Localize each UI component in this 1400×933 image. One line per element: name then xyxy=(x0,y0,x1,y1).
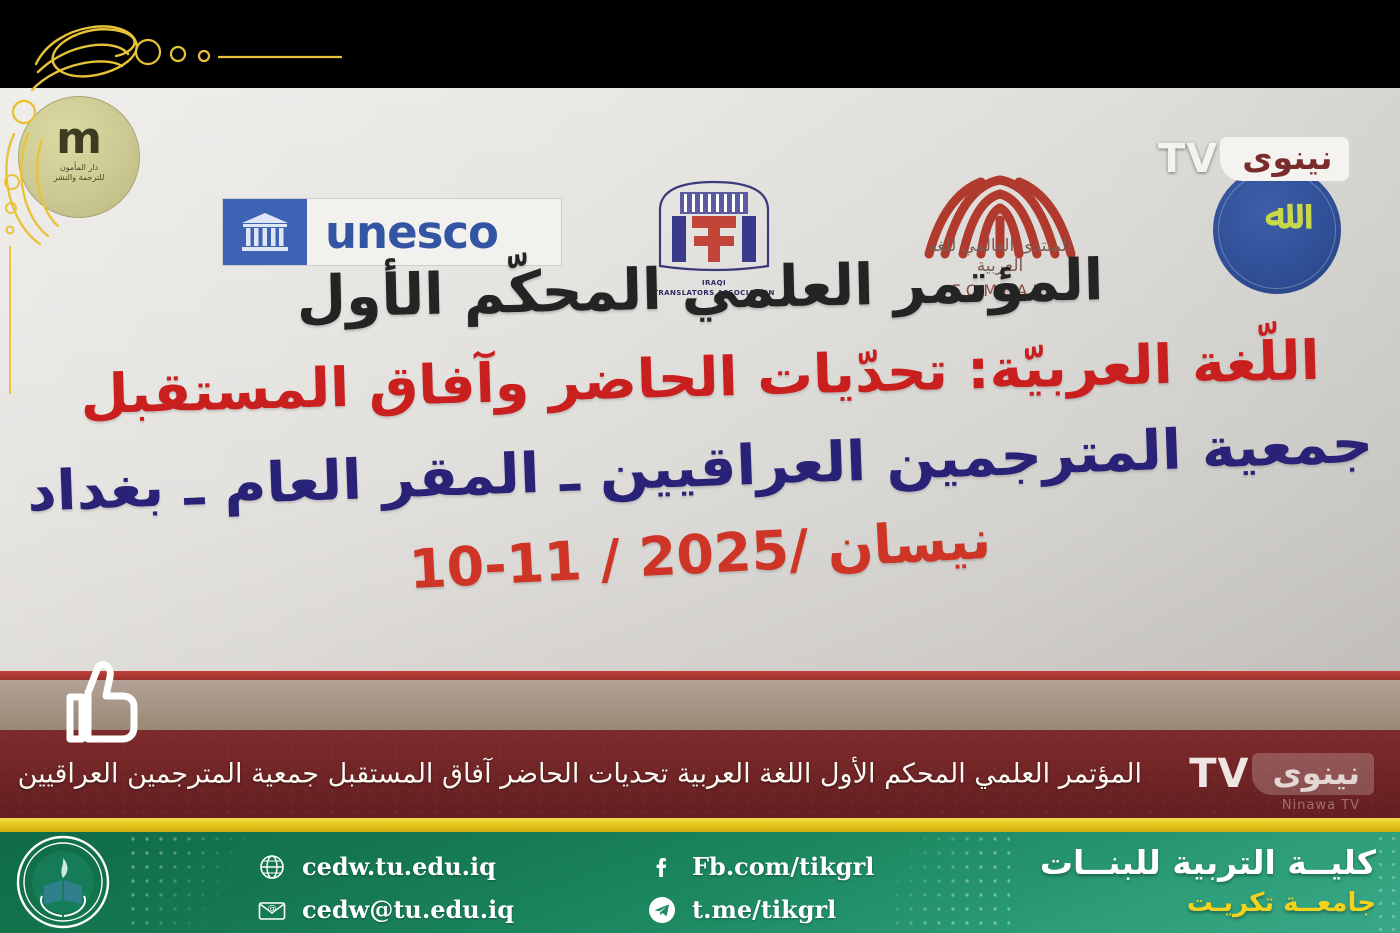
footer-contacts-web: cedw.tu.edu.iq @ cedw@tu.edu.iq xyxy=(258,852,514,924)
contact-facebook-text: Fb.com/tikgrl xyxy=(692,852,874,881)
contact-website-text: cedw.tu.edu.iq xyxy=(302,852,496,881)
mamoun-caption-line2: للترجمة والنشر xyxy=(54,173,105,183)
broadcast-screenshot: m دار المأمون للترجمة والنشر xyxy=(0,0,1400,933)
conference-title: المؤتمر العلمي المحكّم الأول xyxy=(0,241,1400,338)
mamoun-glyph-icon: m xyxy=(56,121,102,156)
footer-university-name: جامعــة تكريـت xyxy=(1040,888,1376,918)
college-seal-icon xyxy=(14,834,112,930)
contact-email[interactable]: @ cedw@tu.edu.iq xyxy=(258,895,514,924)
footer-dot-pattern-left xyxy=(126,832,254,933)
university-glyph-icon: ﷲ xyxy=(1265,192,1288,238)
contact-email-text: cedw@tu.edu.iq xyxy=(302,895,514,924)
contact-website[interactable]: cedw.tu.edu.iq xyxy=(258,852,514,881)
channel-logo-bug: TV نينوى xyxy=(1158,136,1349,182)
thumbs-up-icon[interactable] xyxy=(52,655,148,751)
banner-text-block: المؤتمر العلمي المحكّم الأول اللّغة العر… xyxy=(0,256,1400,586)
channel-name-arabic: نينوى xyxy=(1220,137,1348,181)
facebook-icon xyxy=(648,853,676,881)
dar-al-mamoun-logo: m دار المأمون للترجمة والنشر xyxy=(18,96,140,218)
ticker-tv-text: TV xyxy=(1189,751,1249,797)
mamoun-caption: دار المأمون للترجمة والنشر xyxy=(54,163,105,183)
ticker-channel-sub: Ninawa TV xyxy=(1282,798,1360,813)
contact-telegram-text: t.me/tikgrl xyxy=(692,895,836,924)
news-ticker-bar: المؤتمر العلمي المحكم الأول اللغة العربي… xyxy=(0,730,1400,818)
mamoun-circle: m دار المأمون للترجمة والنشر xyxy=(18,96,140,218)
ticker-channel-arabic: نينوى xyxy=(1252,753,1374,795)
footer-dot-pattern-edge xyxy=(1374,832,1400,933)
svg-text:@: @ xyxy=(268,904,277,914)
ticker-headline: المؤتمر العلمي المحكم الأول اللغة العربي… xyxy=(18,759,1142,790)
email-icon: @ xyxy=(258,896,286,924)
footer-institution-brand: كليــة التربية للبنــات جامعــة تكريـت xyxy=(1040,843,1376,918)
video-frame: m دار المأمون للترجمة والنشر xyxy=(0,0,1400,818)
letterbox-top xyxy=(0,0,1400,88)
footer-college-name: كليــة التربية للبنــات xyxy=(1040,843,1376,882)
channel-tv-text: TV xyxy=(1158,136,1218,182)
footer-dot-pattern-right xyxy=(890,832,1010,933)
globe-icon xyxy=(258,853,286,881)
contact-facebook[interactable]: Fb.com/tikgrl xyxy=(648,852,874,881)
yellow-divider xyxy=(0,818,1400,832)
telegram-icon xyxy=(648,896,676,924)
contact-telegram[interactable]: t.me/tikgrl xyxy=(648,895,874,924)
footer-contacts-social: Fb.com/tikgrl t.me/tikgrl xyxy=(648,852,874,924)
ticker-channel-brand: TV نينوى Ninawa TV xyxy=(1189,751,1374,797)
conference-theme: اللّغة العربيّة: تحدّيات الحاضر وآفاق ال… xyxy=(0,326,1400,429)
mamoun-caption-line1: دار المأمون xyxy=(54,163,105,173)
